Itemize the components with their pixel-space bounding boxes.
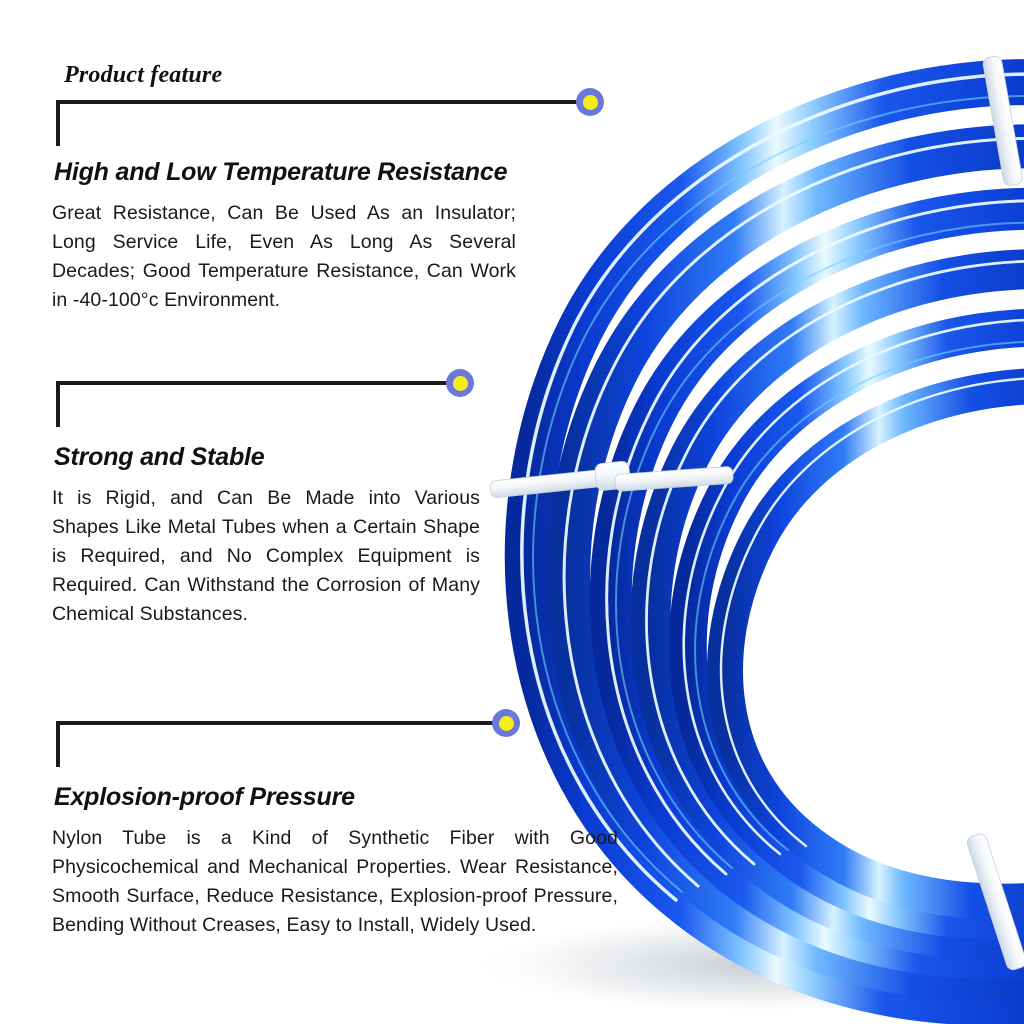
feature-body: It is Rigid, and Can Be Made into Variou… — [52, 484, 480, 629]
feature-body: Great Resistance, Can Be Used As an Insu… — [52, 199, 516, 315]
callout-marker-dot-icon — [492, 709, 520, 737]
feature-list: Product feature High and Low Temperature… — [0, 0, 640, 1024]
infographic-page: Product feature High and Low Temperature… — [0, 0, 1024, 1024]
feature-title: Explosion-proof Pressure — [54, 783, 355, 812]
callout-bracket — [56, 100, 590, 146]
callout-marker-dot-icon — [446, 369, 474, 397]
callout-bracket — [56, 381, 460, 427]
feature-body: Nylon Tube is a Kind of Synthetic Fiber … — [52, 824, 618, 940]
feature-title: High and Low Temperature Resistance — [54, 158, 507, 187]
callout-bracket — [56, 721, 506, 767]
callout-marker-dot-icon — [576, 88, 604, 116]
feature-title: Strong and Stable — [54, 443, 265, 472]
product-feature-eyebrow: Product feature — [64, 62, 222, 89]
